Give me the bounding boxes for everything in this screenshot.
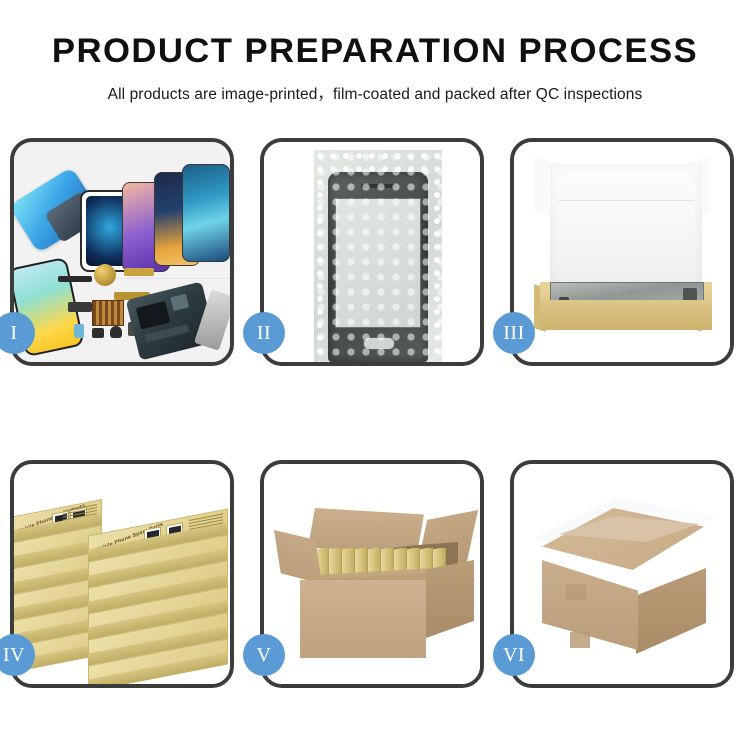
screen-glass-area <box>335 198 421 328</box>
process-step-card-6[interactable]: VI <box>510 460 734 688</box>
step-4-illustration: Mobile Phone Spare Parts <box>14 464 230 684</box>
stacked-kraft-boxes-scene: Mobile Phone Spare Parts <box>14 464 230 684</box>
page-header: PRODUCT PREPARATION PROCESS All products… <box>0 0 750 104</box>
step-badge-2: II <box>243 312 285 354</box>
step-badge-6: VI <box>493 634 535 676</box>
bubble-wrapped-screen-scene <box>264 142 480 362</box>
open-carton-scene <box>264 464 480 684</box>
home-button-icon <box>363 337 395 350</box>
bubble-wrap-sheet <box>314 150 442 362</box>
small-part-icon-2 <box>110 326 122 338</box>
process-steps-grid: I II <box>10 138 742 688</box>
page-subtitle: All products are image-printed，film-coat… <box>0 82 750 104</box>
battery-icon <box>74 324 84 338</box>
step-3-illustration <box>514 142 730 362</box>
process-step-card-5[interactable]: V <box>260 460 484 688</box>
earpiece-slot-icon <box>361 184 395 188</box>
speaker-module-icon <box>94 264 116 286</box>
carton-side-panel <box>426 560 474 638</box>
process-step-card-1[interactable]: I <box>10 138 234 366</box>
step-6-illustration <box>514 464 730 684</box>
process-step-card-3[interactable]: III <box>510 138 734 366</box>
phones-and-parts-scene <box>14 142 230 362</box>
page-title: PRODUCT PREPARATION PROCESS <box>0 34 750 68</box>
foam-sheet-icon <box>558 200 694 283</box>
boxed-screen-scene <box>514 142 730 362</box>
flex-cable-icon-1 <box>124 268 154 276</box>
small-part-icon-1 <box>92 328 104 338</box>
carton-tab-lower <box>570 632 590 648</box>
kraft-box-stack-right: Mobile Phone Spare Parts <box>88 522 228 672</box>
step-badge-3: III <box>493 312 535 354</box>
step-1-illustration <box>14 142 230 362</box>
kraft-box-front <box>540 300 712 330</box>
teal-phone-icon <box>182 164 230 262</box>
phone-screen-icon <box>328 172 428 362</box>
earpiece-mesh-icon <box>58 276 92 282</box>
carton-front-panel <box>300 580 426 658</box>
carton-front-panel <box>542 560 638 650</box>
kraft-box <box>88 652 228 678</box>
carton-tab-upper <box>566 584 586 600</box>
carton-side-panel <box>636 568 706 654</box>
step-2-illustration <box>264 142 480 362</box>
process-step-card-2[interactable]: II <box>260 138 484 366</box>
process-step-card-4[interactable]: Mobile Phone Spare Parts <box>10 460 234 688</box>
sealed-carton-scene <box>514 464 730 684</box>
step-5-illustration <box>264 464 480 684</box>
connector-icon <box>68 302 92 312</box>
chip-array-icon <box>92 300 124 326</box>
step-badge-5: V <box>243 634 285 676</box>
